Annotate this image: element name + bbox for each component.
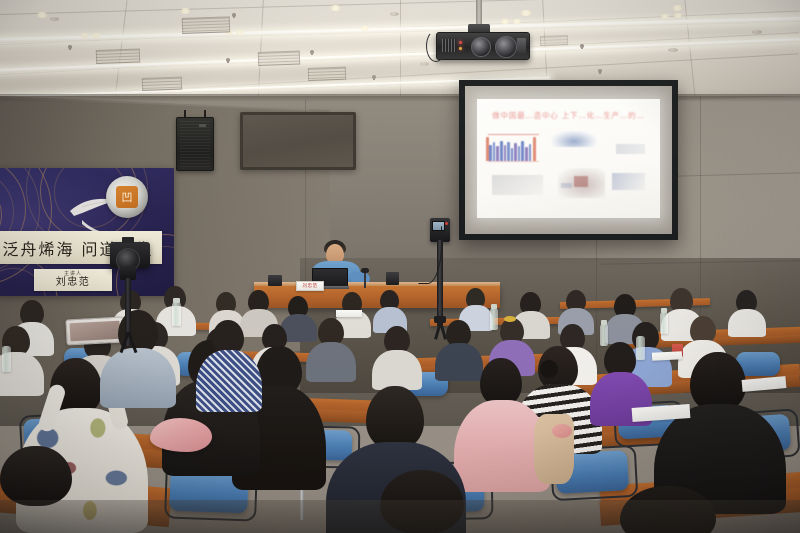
sprinkler-head — [232, 13, 236, 17]
banner-seal-character: 凹 — [116, 186, 138, 208]
slide-image-bottom-center — [558, 168, 605, 198]
front-wall-board — [240, 112, 356, 170]
water-bottle — [660, 312, 668, 334]
downlight — [672, 5, 683, 11]
speaker-badge — [199, 124, 206, 127]
ceiling — [0, 0, 800, 108]
downlight — [91, 33, 101, 38]
sprinkler-head — [580, 44, 584, 48]
bottle-cap — [491, 304, 497, 309]
tripod-leg — [439, 322, 447, 340]
microphone-head — [361, 268, 369, 273]
ceiling-vent — [308, 67, 346, 81]
ceiling-vent — [258, 51, 300, 66]
slide-image-right-top — [616, 144, 645, 153]
slide-image-center-top — [552, 131, 596, 146]
desk-nameplate-text: 刘忠范 — [302, 283, 317, 289]
hair-clip — [504, 316, 516, 322]
projector-lens-secondary — [495, 36, 517, 58]
lecture-hall-photo: 做中国最…造中心 上下…化…生产…的… — [0, 0, 800, 533]
sprinkler-head — [68, 45, 72, 49]
water-bottle — [490, 308, 498, 330]
projection-screen: 做中国最…造中心 上下…化…生产…的… — [459, 80, 678, 240]
projector-cable — [426, 30, 446, 62]
ceiling-projector — [432, 0, 552, 62]
slide-bar-chart — [488, 134, 539, 162]
downlight — [673, 13, 683, 18]
ceiling-wall-junction — [0, 94, 800, 102]
camera-hotshoe — [122, 237, 134, 243]
downlight — [80, 33, 90, 38]
bottle-cap — [661, 308, 667, 313]
projector-lens — [471, 37, 491, 57]
smoke-detector — [50, 17, 59, 21]
tripod-camera-rig — [418, 218, 468, 338]
floor — [0, 500, 800, 533]
banner-seal: 凹 — [106, 176, 148, 218]
presentation-slide: 做中国最…造中心 上下…化…生产…的… — [477, 99, 659, 217]
water-bottle — [172, 302, 181, 326]
downlight — [180, 8, 191, 14]
slide-image-bottom-right — [612, 173, 645, 191]
sprinkler-head — [372, 75, 376, 79]
projector-body — [436, 32, 530, 60]
desk-monitor-left — [268, 275, 282, 286]
microphone-stand — [364, 272, 366, 288]
ceiling-vent — [182, 16, 231, 34]
water-bottle — [636, 336, 645, 360]
downlight — [36, 12, 48, 18]
smoke-detector — [390, 12, 399, 16]
smoke-detector — [668, 48, 678, 52]
smoke-detector — [420, 62, 429, 66]
projector-power-led — [459, 41, 462, 44]
screen-surface: 做中国最…造中心 上下…化…生产…的… — [465, 86, 672, 234]
pink-garment — [150, 418, 212, 452]
ceiling-vent — [96, 48, 140, 64]
sprinkler-head — [226, 58, 230, 62]
wall-speaker — [176, 117, 214, 171]
desk-nameplate: 刘忠范 — [296, 281, 324, 291]
ceiling-vent — [142, 77, 182, 91]
bottle-cap — [173, 298, 180, 303]
slide-title: 做中国最…造中心 上下…化…生产…的… — [488, 110, 648, 121]
water-bottle — [2, 346, 11, 372]
projector-status-led — [459, 47, 462, 50]
hair-bun — [540, 360, 558, 378]
pink-pouch — [552, 424, 572, 438]
smoke-detector — [752, 30, 762, 34]
tripod-collar — [434, 316, 446, 323]
bottle-cap — [601, 320, 607, 325]
handout-paper — [652, 351, 682, 361]
downlight — [235, 30, 245, 35]
downlight — [330, 5, 341, 11]
slide-image-bottom-left — [492, 175, 543, 195]
downlight — [360, 26, 370, 31]
projector-side-panel — [517, 38, 526, 54]
sprinkler-head — [310, 50, 314, 54]
downlight — [660, 14, 670, 19]
speaker-grill — [180, 121, 210, 167]
handout-paper — [336, 310, 362, 317]
desk-monitor-right — [386, 272, 399, 285]
sprinkler-head — [598, 69, 602, 73]
projector-mount-rod — [476, 0, 482, 26]
water-bottle — [600, 324, 608, 346]
dslr-camera-rig — [102, 236, 156, 346]
banner-speaker-name: 刘忠范 — [56, 277, 91, 289]
camera-record-led — [445, 222, 448, 225]
banner-speaker-plate: 主讲人 刘忠范 — [34, 269, 112, 291]
